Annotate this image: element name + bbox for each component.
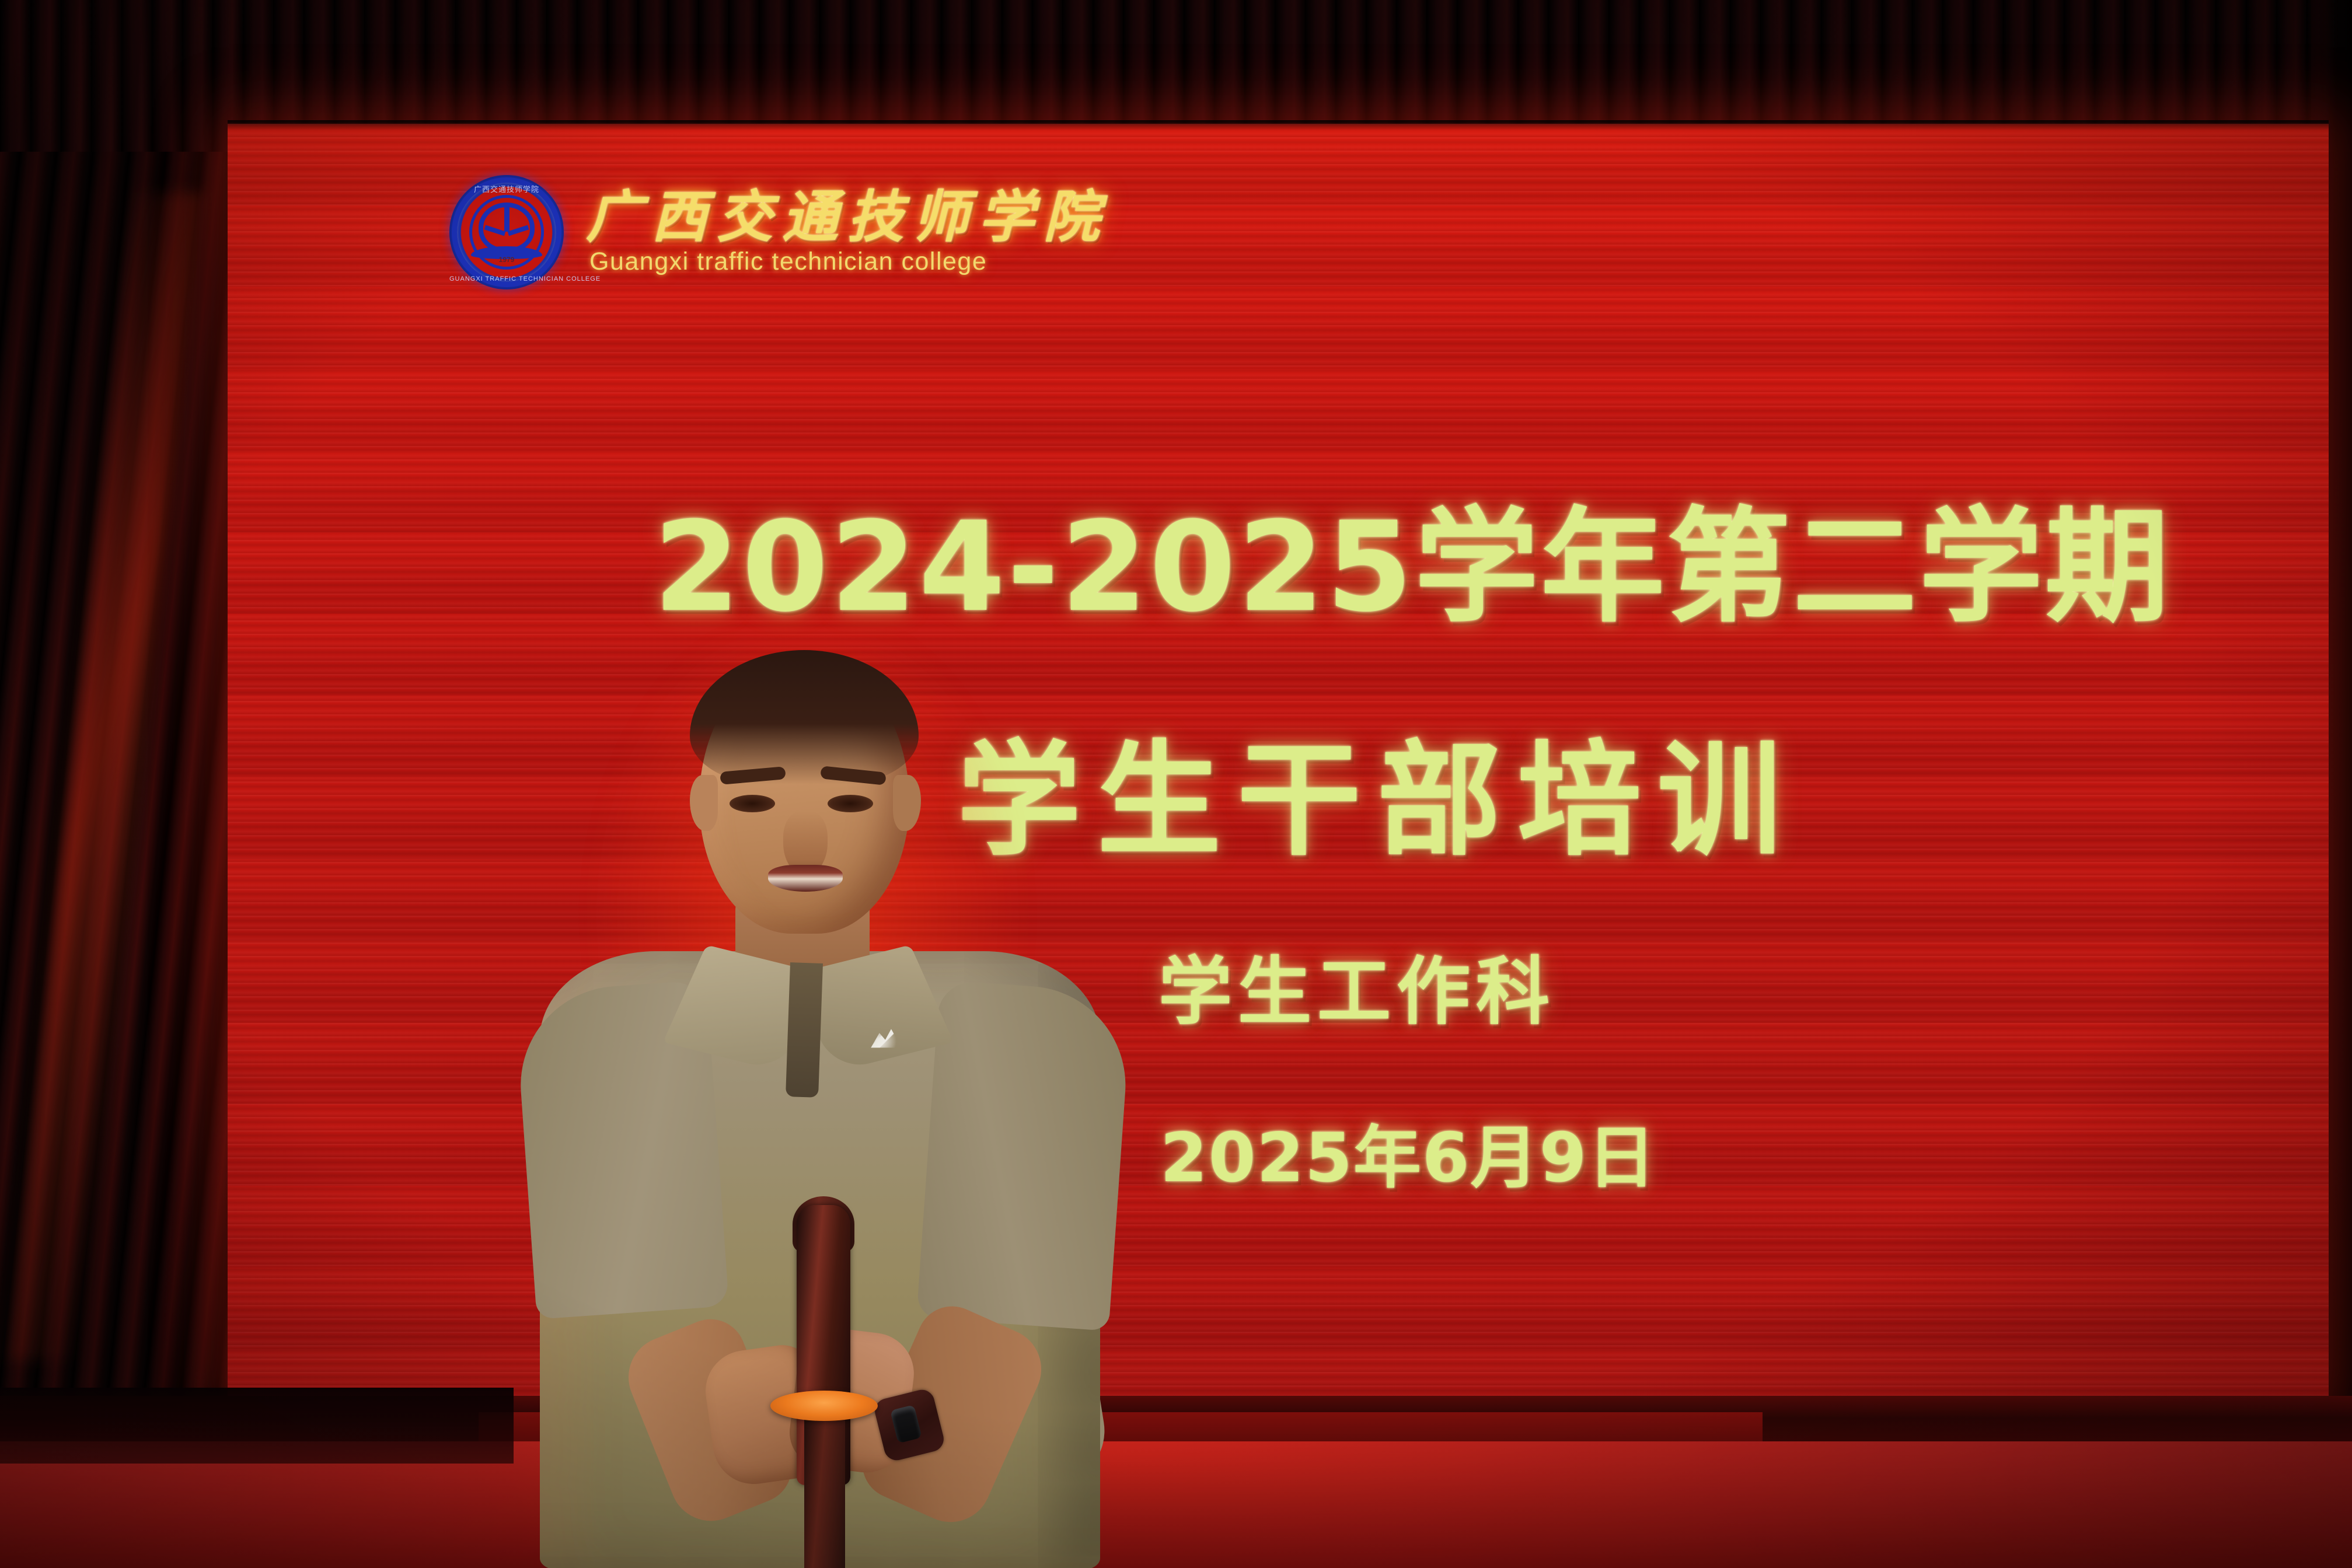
speaker-eye-right [828, 795, 873, 812]
speaker-eye-left [730, 795, 775, 812]
school-header-lockup: 广西交通技师学院 1979 GUANGXI TRAFFIC TECHNICIAN… [449, 175, 1109, 289]
school-name-block: 广西交通技师学院 Guangxi traffic technician coll… [586, 188, 1109, 277]
stage-floor-shadow-left [0, 1388, 514, 1464]
crest-micro-text-bottom: GUANGXI TRAFFIC TECHNICIAN COLLEGE [449, 275, 564, 282]
polo-placket [786, 962, 823, 1098]
microphone-orange-ring [770, 1391, 878, 1421]
speaker-ear-left [690, 775, 718, 831]
slide-department: 学生工作科 [1158, 933, 1555, 1039]
crest-micro-text-top: 广西交通技师学院 [449, 183, 564, 194]
slide-title-line-1: 2024-2025学年第二学期 [654, 467, 2171, 646]
speaker-mouth [768, 865, 843, 892]
steering-wheel-icon [479, 202, 535, 253]
school-name-chinese: 广西交通技师学院 [586, 188, 1109, 246]
speaker-person [484, 636, 1156, 1568]
screenshot-root: 广西交通技师学院 1979 GUANGXI TRAFFIC TECHNICIAN… [0, 0, 2352, 1568]
microphone-handle [804, 1412, 845, 1568]
crest-year: 1979 [449, 256, 564, 264]
school-name-english: Guangxi traffic technician college [589, 247, 1109, 276]
college-crest-icon: 广西交通技师学院 1979 GUANGXI TRAFFIC TECHNICIAN… [449, 175, 564, 289]
slide-date: 2025年6月9日 [1160, 1103, 1656, 1201]
led-top-edge [228, 120, 2329, 130]
